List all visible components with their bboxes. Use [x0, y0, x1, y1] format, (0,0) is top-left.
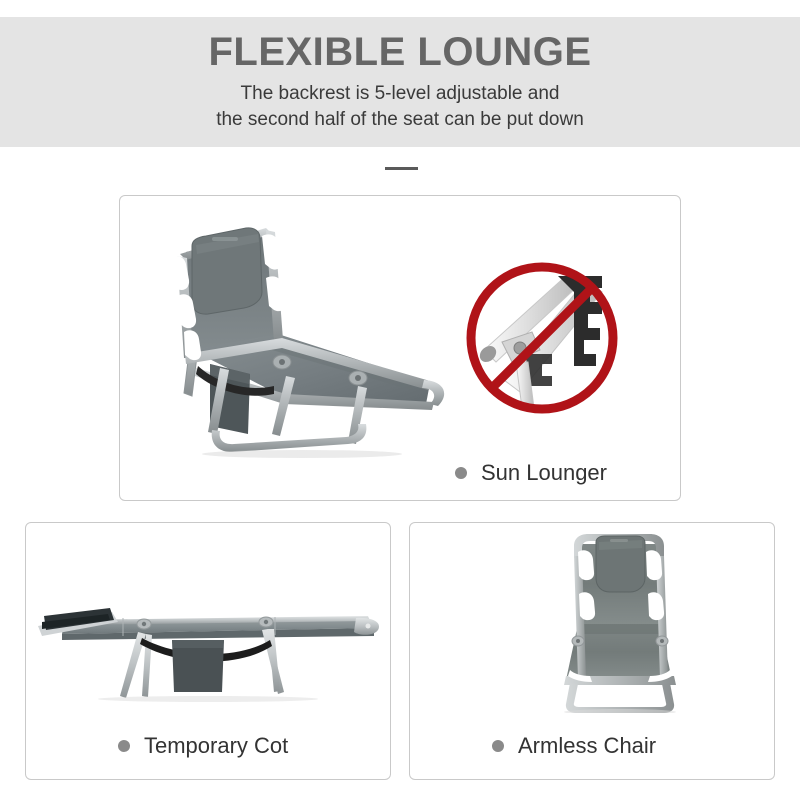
- caption-armless-chair: Armless Chair: [492, 733, 656, 759]
- caption-label: Armless Chair: [518, 733, 656, 759]
- caption-temporary-cot: Temporary Cot: [118, 733, 288, 759]
- caption-sun-lounger: Sun Lounger: [455, 460, 607, 486]
- bullet-icon: [118, 740, 130, 752]
- page-title: FLEXIBLE LOUNGE: [0, 29, 800, 75]
- caption-label: Sun Lounger: [481, 460, 607, 486]
- caption-label: Temporary Cot: [144, 733, 288, 759]
- header-banner: FLEXIBLE LOUNGE The backrest is 5-level …: [0, 17, 800, 147]
- temporary-cot-photo: [38, 582, 382, 702]
- sun-lounger-photo: [162, 218, 452, 458]
- subtitle-line-1: The backrest is 5-level adjustable and: [0, 81, 800, 107]
- no-adjust-warning: [462, 258, 622, 418]
- section-divider: [385, 167, 418, 170]
- armless-chair-photo: [552, 528, 697, 713]
- bullet-icon: [492, 740, 504, 752]
- bullet-icon: [455, 467, 467, 479]
- subtitle-line-2: the second half of the seat can be put d…: [0, 107, 800, 133]
- page-subtitle: The backrest is 5-level adjustable and t…: [0, 81, 800, 133]
